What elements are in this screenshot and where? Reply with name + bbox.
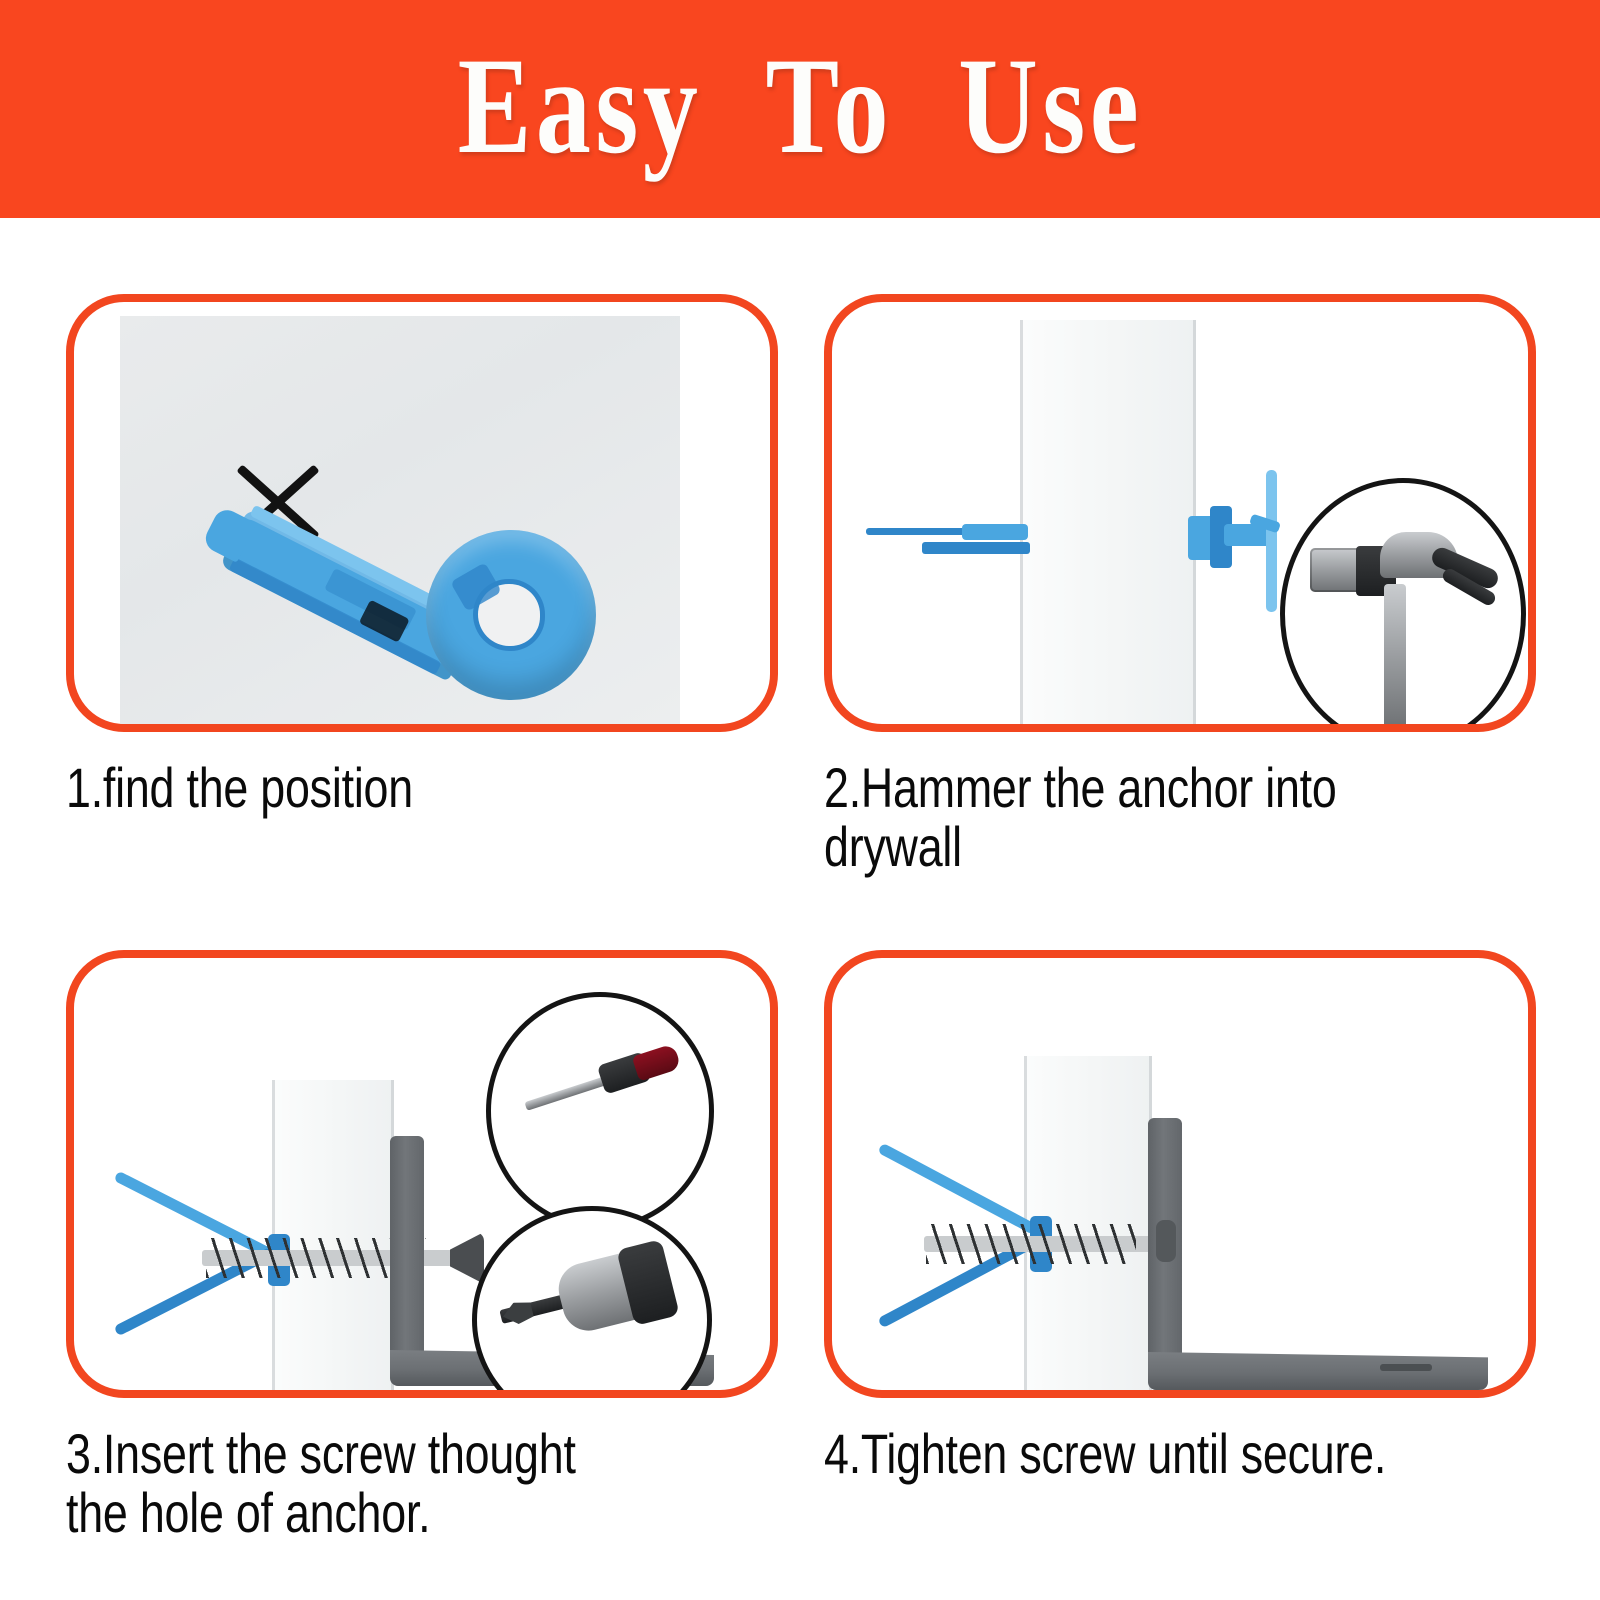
hammer-icon (1310, 522, 1500, 732)
anchor-ring-flange (426, 530, 596, 700)
step-3-caption: 3.Insert the screw thought the hole of a… (66, 1424, 778, 1543)
step-4-caption: 4.Tighten screw until secure. (824, 1424, 1536, 1483)
page-title: Easy To Use (457, 37, 1142, 181)
step-1-image-frame (66, 294, 778, 732)
screw (202, 1230, 484, 1286)
step-4: 4.Tighten screw until secure. (824, 950, 1536, 1483)
l-bracket-vertical (390, 1136, 424, 1364)
step-3: 3.Insert the screw thought the hole of a… (66, 950, 778, 1543)
bracket-screw-boss (1156, 1220, 1176, 1262)
screw (924, 1216, 1162, 1272)
step-4-image-frame (824, 950, 1536, 1398)
bracket-slot (1380, 1364, 1432, 1371)
l-bracket-horizontal (1148, 1352, 1488, 1390)
header-banner: Easy To Use (0, 0, 1600, 218)
step-1-caption: 1.find the position (66, 758, 778, 817)
step-2-image-frame (824, 294, 1536, 732)
step-1: 1.find the position (66, 294, 778, 817)
blue-anchor-shaft (866, 524, 1028, 558)
drywall-slab (1020, 320, 1196, 724)
step-3-image-frame (66, 950, 778, 1398)
step-2-caption: 2.Hammer the anchor into drywall (824, 758, 1536, 877)
steps-grid: 1.find the position (0, 218, 1600, 1600)
step-2: 2.Hammer the anchor into drywall (824, 294, 1536, 877)
